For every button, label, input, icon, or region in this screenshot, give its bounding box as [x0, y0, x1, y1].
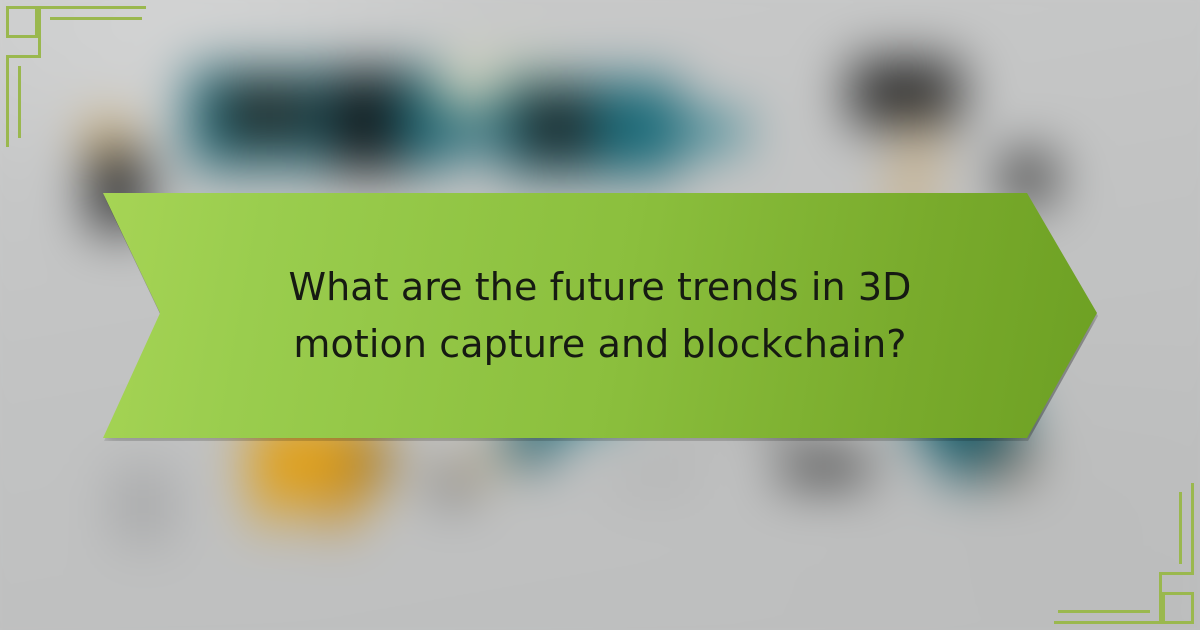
- bg-shape-label-2: [608, 468, 702, 492]
- page-title: What are the future trends in 3D motion …: [220, 259, 980, 373]
- ornament-line-outer-elbow-br: [1159, 572, 1194, 575]
- bg-shape-label-dark: [780, 452, 868, 482]
- ornament-line-outer-corner: [38, 6, 41, 58]
- ornament-line-outer-vertical: [6, 55, 9, 147]
- bg-shape-small-dark-dot: [438, 470, 468, 500]
- ornament-line-inner-horizontal: [50, 17, 142, 20]
- bg-shape-dot-teal: [700, 122, 730, 152]
- ornament-line-outer-vertical-br: [1191, 483, 1194, 575]
- ornament-line-outer-elbow: [6, 55, 41, 58]
- corner-ornament-top-left: [0, 0, 190, 190]
- headline-banner: What are the future trends in 3D motion …: [103, 193, 1097, 438]
- ornament-line-inner-vertical: [18, 66, 21, 138]
- ornament-line-outer-horizontal-br: [1054, 621, 1162, 624]
- corner-ornament-bottom-right: [1010, 440, 1200, 630]
- bg-shape-brown-dot: [350, 440, 394, 484]
- ornament-square-tl: [6, 6, 38, 38]
- ornament-line-inner-horizontal-br: [1058, 610, 1150, 613]
- ornament-line-outer-horizontal: [38, 6, 146, 9]
- ornament-square-br: [1162, 592, 1194, 624]
- ornament-line-inner-corner: [50, 17, 53, 18]
- ornament-line-inner-vertical-br: [1179, 492, 1182, 564]
- bg-shape-chip-dark-3: [520, 92, 594, 162]
- bg-shape-amber-leg-1: [258, 480, 288, 524]
- ornament-line-outer-corner-br: [1159, 572, 1162, 624]
- bg-shape-chip-dark-1: [222, 82, 314, 144]
- bg-shape-amber-leg-2: [318, 480, 352, 528]
- bg-shape-grey-cube: [108, 462, 178, 548]
- bg-shape-tool-head: [850, 60, 960, 126]
- share-card: What are the future trends in 3D motion …: [0, 0, 1200, 630]
